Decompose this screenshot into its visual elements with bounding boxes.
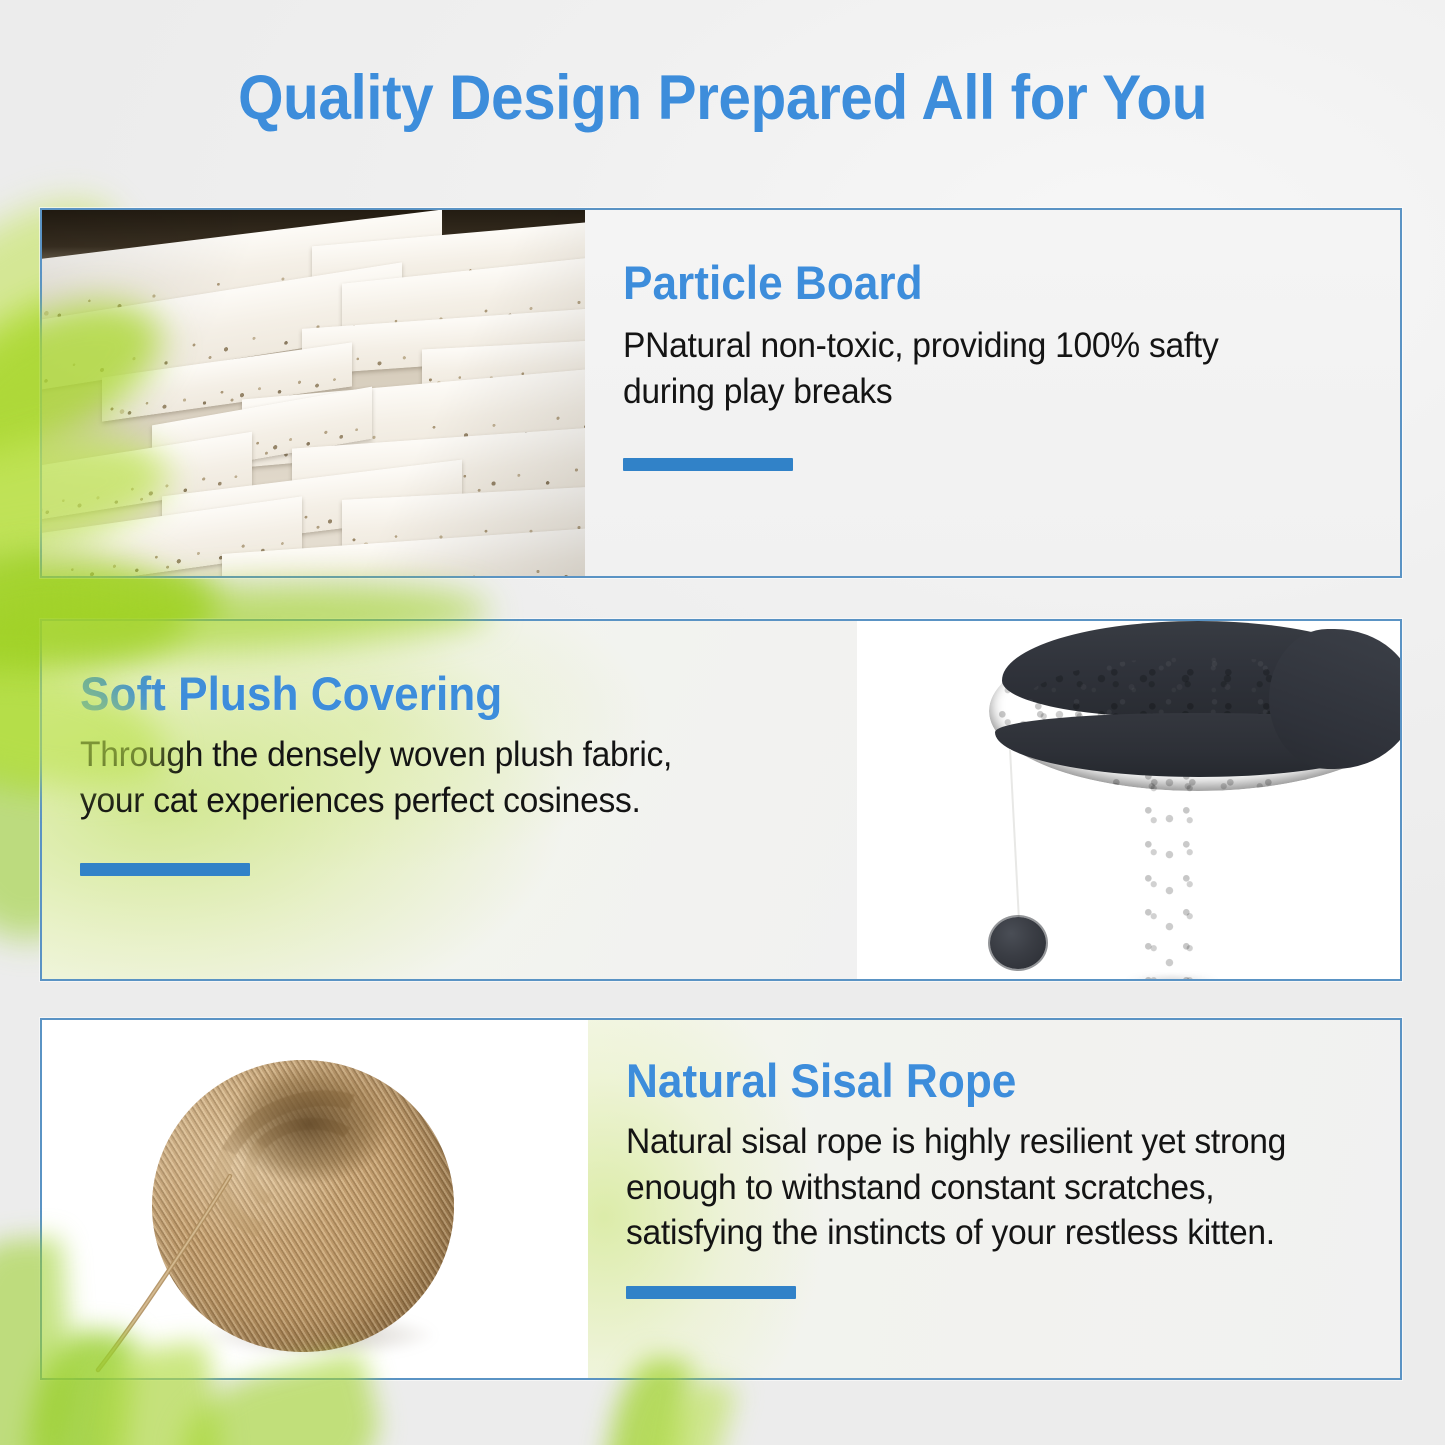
particle-board-image-cell [42,210,585,576]
sisal-rope-text-cell: Natural Sisal Rope Natural sisal rope is… [588,1020,1400,1378]
soft-plush-text-cell: Soft Plush Covering Through the densely … [42,621,857,979]
particle-board-stack-photo [42,210,585,576]
feature-panel-particle-board: Particle Board PNatural non-toxic, provi… [40,208,1402,578]
panel-body-soft-plush-covering: Through the densely woven plush fabric, … [80,732,742,823]
sisal-rope-image-cell [42,1020,588,1378]
rope-trailing-strand [62,1170,282,1378]
plush-cat-perch-photo [857,621,1400,979]
cat-tree-post [1135,761,1197,979]
panel-heading-soft-plush-covering: Soft Plush Covering [80,669,775,718]
particle-board-text-cell: Particle Board PNatural non-toxic, provi… [585,210,1400,576]
feature-panel-soft-plush-covering: Soft Plush Covering Through the densely … [40,619,1402,981]
accent-underline-bar [626,1286,796,1299]
panel-heading-particle-board: Particle Board [623,258,1318,307]
infographic-canvas: Quality Design Prepared All for You [0,0,1445,1445]
feature-panel-natural-sisal-rope: Natural Sisal Rope Natural sisal rope is… [40,1018,1402,1380]
sisal-rope-ball-photo [42,1020,588,1378]
soft-plush-image-cell [857,621,1400,979]
panel-heading-natural-sisal-rope: Natural Sisal Rope [626,1056,1318,1105]
toy-string [1009,749,1020,925]
foliage-blade [642,1372,738,1445]
page-title: Quality Design Prepared All for You [51,62,1395,134]
panel-body-particle-board: PNatural non-toxic, providing 100% safty… [623,323,1314,414]
panel-body-natural-sisal-rope: Natural sisal rope is highly resilient y… [626,1119,1333,1256]
accent-underline-bar [80,863,250,876]
accent-underline-bar [623,458,793,471]
pom-pom-toy-ball [990,917,1046,969]
